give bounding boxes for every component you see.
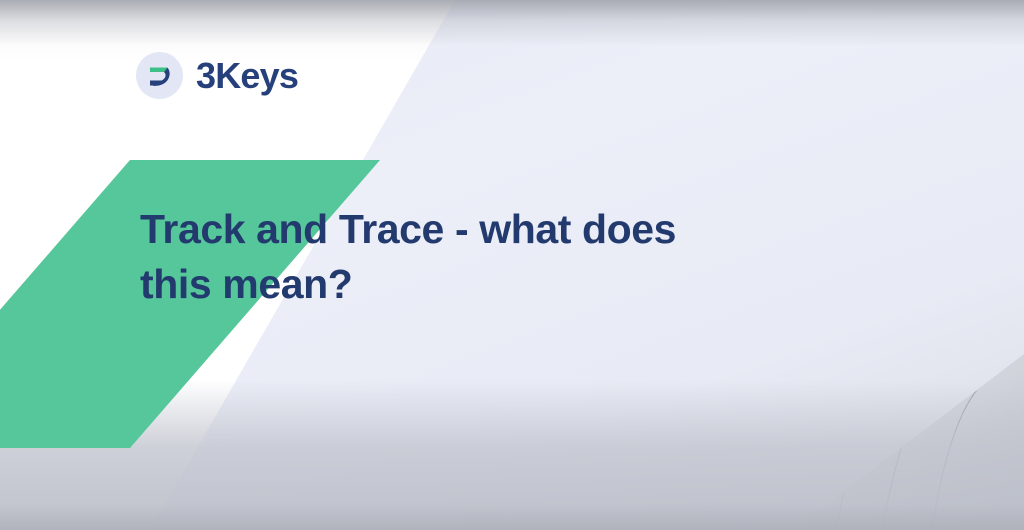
presentation-slide: 3Keys Track and Trace - what does this m… (0, 0, 1024, 530)
3keys-swoosh-logo-icon (136, 52, 183, 99)
page-title: Track and Trace - what does this mean? (140, 202, 676, 311)
brand-name: 3Keys (196, 58, 298, 94)
brand-logo: 3Keys (136, 52, 298, 99)
